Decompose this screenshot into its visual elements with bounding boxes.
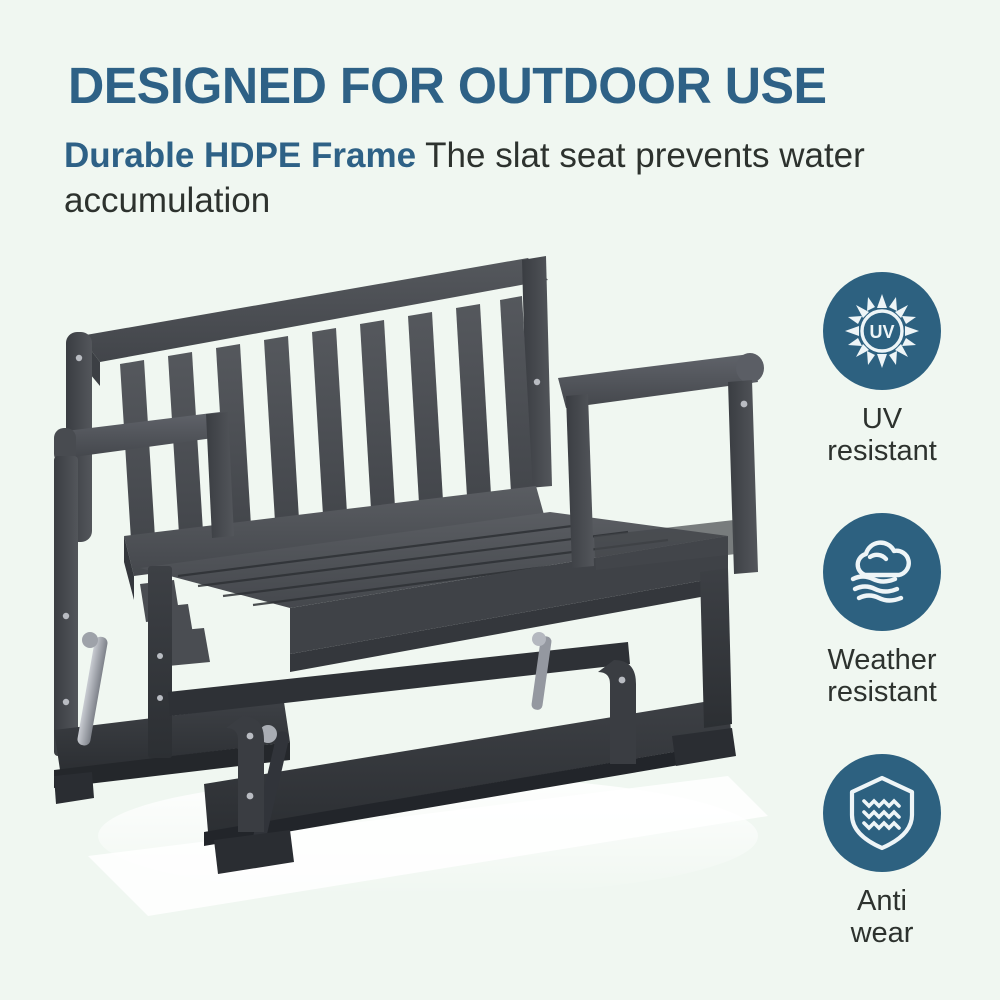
uv-icon-text: UV	[869, 322, 894, 342]
feature-label: Weather resistant	[782, 644, 982, 709]
feature-label: Anti wear	[782, 885, 982, 950]
feature-list: UV UV resistant Weather resistant	[782, 272, 982, 950]
feature-item-anti-wear: Anti wear	[782, 754, 982, 950]
subheading-strong: Durable HDPE Frame	[64, 136, 416, 175]
cloud-wind-icon	[823, 513, 941, 631]
feature-label: UV resistant	[782, 403, 982, 468]
feature-item-uv-resistant: UV UV resistant	[782, 272, 982, 468]
uv-sun-icon: UV	[823, 272, 941, 390]
shield-waves-icon	[823, 754, 941, 872]
feature-item-weather-resistant: Weather resistant	[782, 513, 982, 709]
product-image	[28, 236, 788, 956]
subheading: Durable HDPE Frame The slat seat prevent…	[64, 134, 964, 224]
page-title: DESIGNED FOR OUTDOOR USE	[68, 56, 827, 115]
